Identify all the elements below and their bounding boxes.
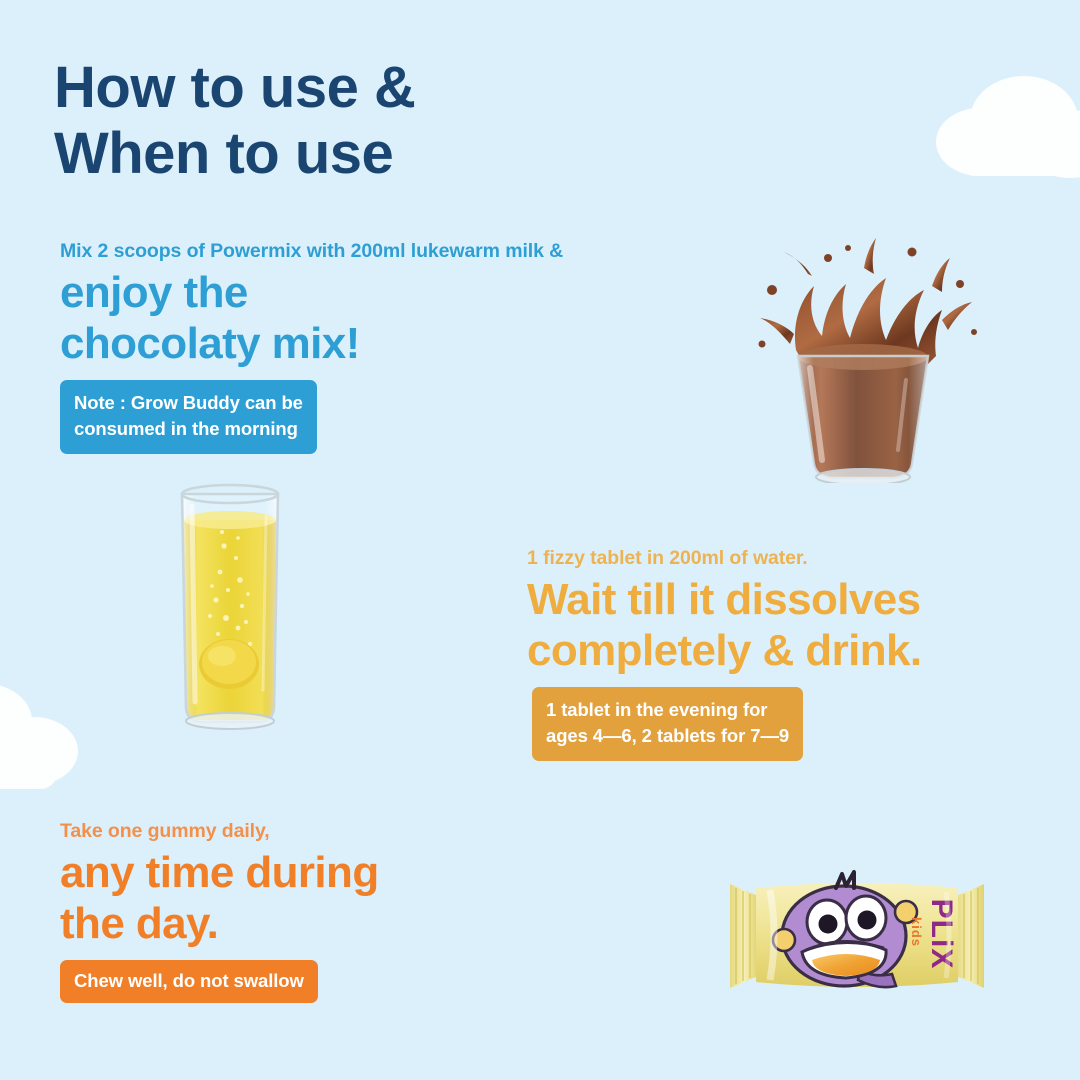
page-title-line-2: When to use (54, 121, 674, 187)
effervescent-tablet-glass-image (162, 476, 298, 736)
page-title: How to use & When to use (54, 55, 674, 187)
section-gummy-note-badge: Chew well, do not swallow (60, 960, 318, 1003)
plix-kids-gummy-wrapper-image: PLiX kids (726, 858, 988, 1010)
section-fizzy-tablet: 1 fizzy tablet in 200ml of water. Wait t… (527, 547, 921, 761)
section-fizzy-note-line-1: 1 tablet in the evening for (546, 697, 789, 723)
section-powermix-heading-line-2: chocolaty mix! (60, 318, 563, 369)
section-powermix-heading: enjoy the chocolaty mix! (60, 267, 563, 369)
chocolate-milk-splash-glass-image (736, 228, 986, 483)
section-powermix-note-badge: Note : Grow Buddy can be consumed in the… (60, 380, 317, 454)
section-fizzy-heading-line-2: completely & drink. (527, 625, 921, 676)
section-powermix-note-line-2: consumed in the morning (74, 416, 303, 442)
gummy-brand-text: PLiX (925, 899, 958, 970)
cloud-left-middle-icon (0, 665, 130, 815)
section-fizzy-heading-line-1: Wait till it dissolves (527, 574, 921, 625)
section-gummy-heading: any time during the day. (60, 847, 379, 949)
section-gummy-heading-line-2: the day. (60, 898, 379, 949)
section-fizzy-kicker: 1 fizzy tablet in 200ml of water. (527, 547, 921, 570)
page-title-line-1: How to use & (54, 55, 674, 121)
section-gummy-heading-line-1: any time during (60, 847, 379, 898)
section-gummy-kicker: Take one gummy daily, (60, 820, 379, 843)
section-gummy: Take one gummy daily, any time during th… (60, 820, 379, 1003)
section-powermix-note-line-1: Note : Grow Buddy can be (74, 390, 303, 416)
gummy-sub-brand-text: kids (909, 917, 924, 947)
section-fizzy-heading: Wait till it dissolves completely & drin… (527, 574, 921, 676)
section-powermix: Mix 2 scoops of Powermix with 200ml luke… (60, 240, 563, 454)
section-powermix-kicker: Mix 2 scoops of Powermix with 200ml luke… (60, 240, 563, 263)
section-gummy-note-line-1: Chew well, do not swallow (74, 968, 304, 994)
section-powermix-heading-line-1: enjoy the (60, 267, 563, 318)
cloud-top-right-icon (908, 50, 1080, 190)
infographic-canvas: How to use & When to use Mix 2 scoops of… (0, 0, 1080, 1080)
section-fizzy-note-line-2: ages 4—6, 2 tablets for 7—9 (546, 723, 789, 749)
section-fizzy-note-badge: 1 tablet in the evening for ages 4—6, 2 … (532, 687, 803, 761)
